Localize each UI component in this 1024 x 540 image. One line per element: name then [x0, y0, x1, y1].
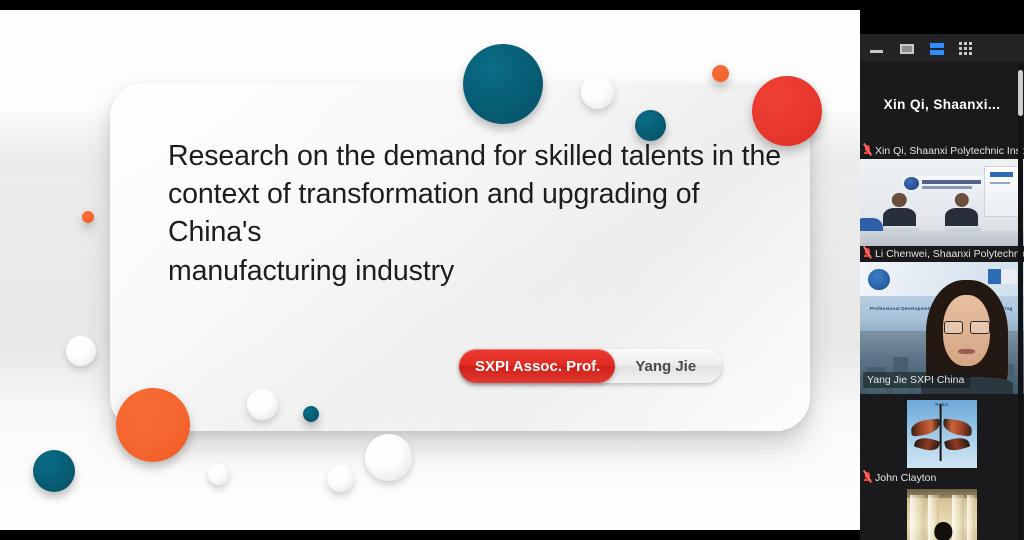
- participant-name-row: Xin Qi, Shaanxi Polytechnic Institu: [860, 143, 1024, 159]
- mic-muted-icon: [864, 145, 871, 157]
- slide-card: Research on the demand for skilled talen…: [110, 83, 810, 431]
- red-circle-top-right: [752, 76, 822, 146]
- participant-tile[interactable]: Xin Qi, Shaanxi Polytechnic Institu: [860, 143, 1024, 246]
- speaker-name: Yang Jie: [615, 349, 722, 383]
- screen-root: Research on the demand for skilled talen…: [0, 0, 1024, 540]
- poster-board: [984, 166, 1019, 217]
- orange-dot-top: [712, 65, 729, 82]
- orange-circle-large: [116, 388, 190, 462]
- active-speaker-name-overlay: Yang Jie SXPI China: [863, 372, 970, 388]
- participant-video[interactable]: Professional Development Manufacturing: [860, 262, 1024, 394]
- gallery-view-icon[interactable]: [959, 42, 972, 55]
- person-silhouette: [929, 522, 957, 540]
- speaker-view-icon[interactable]: [929, 42, 946, 55]
- white-circle-left: [66, 336, 96, 366]
- speaker-role-badge: SXPI Assoc. Prof.: [459, 349, 615, 383]
- letterbox-bottom: [0, 530, 860, 540]
- white-circle-bottom-a: [327, 465, 354, 492]
- white-dot-small-bottom: [208, 464, 229, 485]
- participant-video[interactable]: Robin: [907, 400, 977, 468]
- slide-title: Research on the demand for skilled talen…: [168, 137, 788, 290]
- teal-circle-large-top: [463, 44, 543, 124]
- panel-scrollbar-track[interactable]: [1018, 64, 1023, 540]
- white-circle-top-right: [581, 76, 614, 109]
- slide-caption-left: Professional Development: [870, 306, 933, 311]
- participant-tile[interactable]: Robin John Clayton: [860, 400, 1024, 488]
- participant-name: Li Chenwei, Shaanxi Polytechnic In: [875, 248, 1024, 260]
- curtain: [910, 495, 925, 540]
- photo-caption: Robin: [907, 402, 977, 407]
- participant-tile[interactable]: Li Chenwei, Shaanxi Polytechnic In Profe…: [860, 246, 1024, 394]
- shared-screen-slide[interactable]: Research on the demand for skilled talen…: [0, 10, 860, 530]
- mic-muted-icon: [864, 248, 871, 260]
- teal-dot-bottom: [303, 406, 319, 422]
- teal-dot-mid-top: [635, 110, 666, 141]
- bird-wing-lower-right: [944, 435, 970, 453]
- participant-name: Yang Jie SXPI China: [867, 374, 964, 386]
- curtain: [967, 495, 975, 540]
- speaker-pill: SXPI Assoc. Prof. Yang Jie: [459, 349, 722, 383]
- bird-body: [939, 404, 942, 461]
- bird-wing-left: [910, 419, 941, 437]
- banner-text-line: [922, 180, 981, 184]
- participant-tile[interactable]: [860, 489, 1024, 540]
- participant-name: Xin Qi, Shaanxi Polytechnic Institu: [875, 145, 1024, 157]
- banner-text-line-2: [922, 186, 971, 189]
- zoom-panel-toolbar: [860, 34, 1024, 62]
- video-scene: Robin: [907, 400, 977, 468]
- mic-muted-icon: [864, 472, 871, 484]
- letterbox-panel-top: [860, 0, 1024, 34]
- letterbox-top: [0, 0, 860, 10]
- zoom-participant-panel[interactable]: Xin Qi, Shaanxi... Xin Qi, Shaanxi Polyt…: [860, 34, 1024, 540]
- participant-name: John Clayton: [875, 472, 936, 484]
- participant-video[interactable]: [907, 489, 977, 540]
- table-surface: [860, 231, 1024, 246]
- bird-wing-lower-left: [914, 435, 940, 453]
- active-speaker-header: Xin Qi, Shaanxi...: [860, 62, 1024, 146]
- participant-name-row: Li Chenwei, Shaanxi Polytechnic In: [860, 246, 1024, 262]
- white-circle-bottom-b: [365, 434, 412, 481]
- video-scene: [860, 159, 1024, 246]
- foreground-arm: [860, 218, 883, 232]
- bird-wing-right: [943, 419, 974, 437]
- minimize-icon[interactable]: [869, 42, 886, 55]
- maximize-icon[interactable]: [899, 42, 916, 55]
- institute-logo-icon: [868, 269, 889, 290]
- teal-circle-bottom-left: [33, 450, 75, 492]
- white-circle-mid-bottom: [247, 389, 278, 420]
- participant-name-row: John Clayton: [860, 470, 1024, 486]
- participant-video[interactable]: [860, 159, 1024, 246]
- panel-scrollbar-thumb[interactable]: [1018, 70, 1023, 116]
- orange-dot-left: [82, 211, 94, 223]
- video-scene: [907, 489, 977, 540]
